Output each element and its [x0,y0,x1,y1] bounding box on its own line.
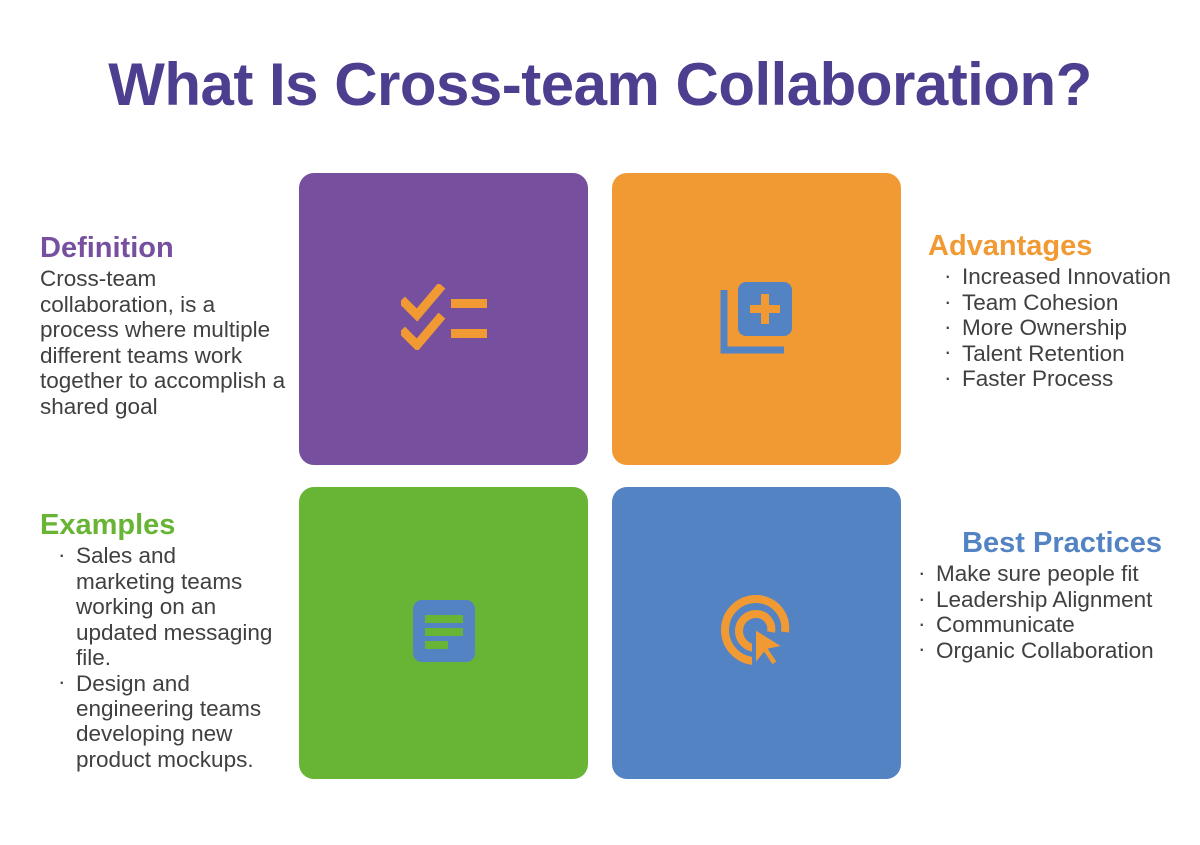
advantages-list: Increased Innovation Team Cohesion More … [936,264,1176,391]
list-item: Leadership Alignment [910,587,1162,612]
list-item: Talent Retention [936,341,1176,366]
block-definition: Definition Cross-team collaboration, is … [40,232,286,419]
document-lines-icon [413,600,475,667]
block-advantages: Advantages Increased Innovation Team Coh… [928,230,1176,392]
examples-list: Sales and marketing teams working on an … [50,543,280,772]
block-examples: Examples Sales and marketing teams worki… [40,509,280,772]
list-item: Design and engineering teams developing … [50,671,280,773]
panel-definition [299,173,588,465]
checklist-icon [401,284,487,355]
list-item: Increased Innovation [936,264,1176,289]
list-item: Organic Collaboration [910,638,1162,663]
panel-best-practices [612,487,901,779]
list-item: Faster Process [936,366,1176,391]
definition-heading: Definition [40,232,286,264]
list-item: Make sure people fit [910,561,1162,586]
infographic-slide: What Is Cross-team Collaboration? [0,0,1200,845]
panel-examples [299,487,588,779]
examples-heading: Examples [40,509,280,541]
block-best-practices: Best Practices Make sure people fit Lead… [910,527,1162,663]
advantages-heading: Advantages [928,230,1176,262]
list-item: Sales and marketing teams working on an … [50,543,280,670]
best-practices-heading: Best Practices [910,527,1162,559]
panel-advantages [612,173,901,465]
page-title: What Is Cross-team Collaboration? [0,52,1200,118]
list-item: Team Cohesion [936,290,1176,315]
definition-body: Cross-team collaboration, is a process w… [40,266,286,419]
add-duplicate-icon [720,280,794,359]
best-practices-list: Make sure people fit Leadership Alignmen… [910,561,1162,663]
list-item: Communicate [910,612,1162,637]
click-target-icon [718,592,796,675]
list-item: More Ownership [936,315,1176,340]
